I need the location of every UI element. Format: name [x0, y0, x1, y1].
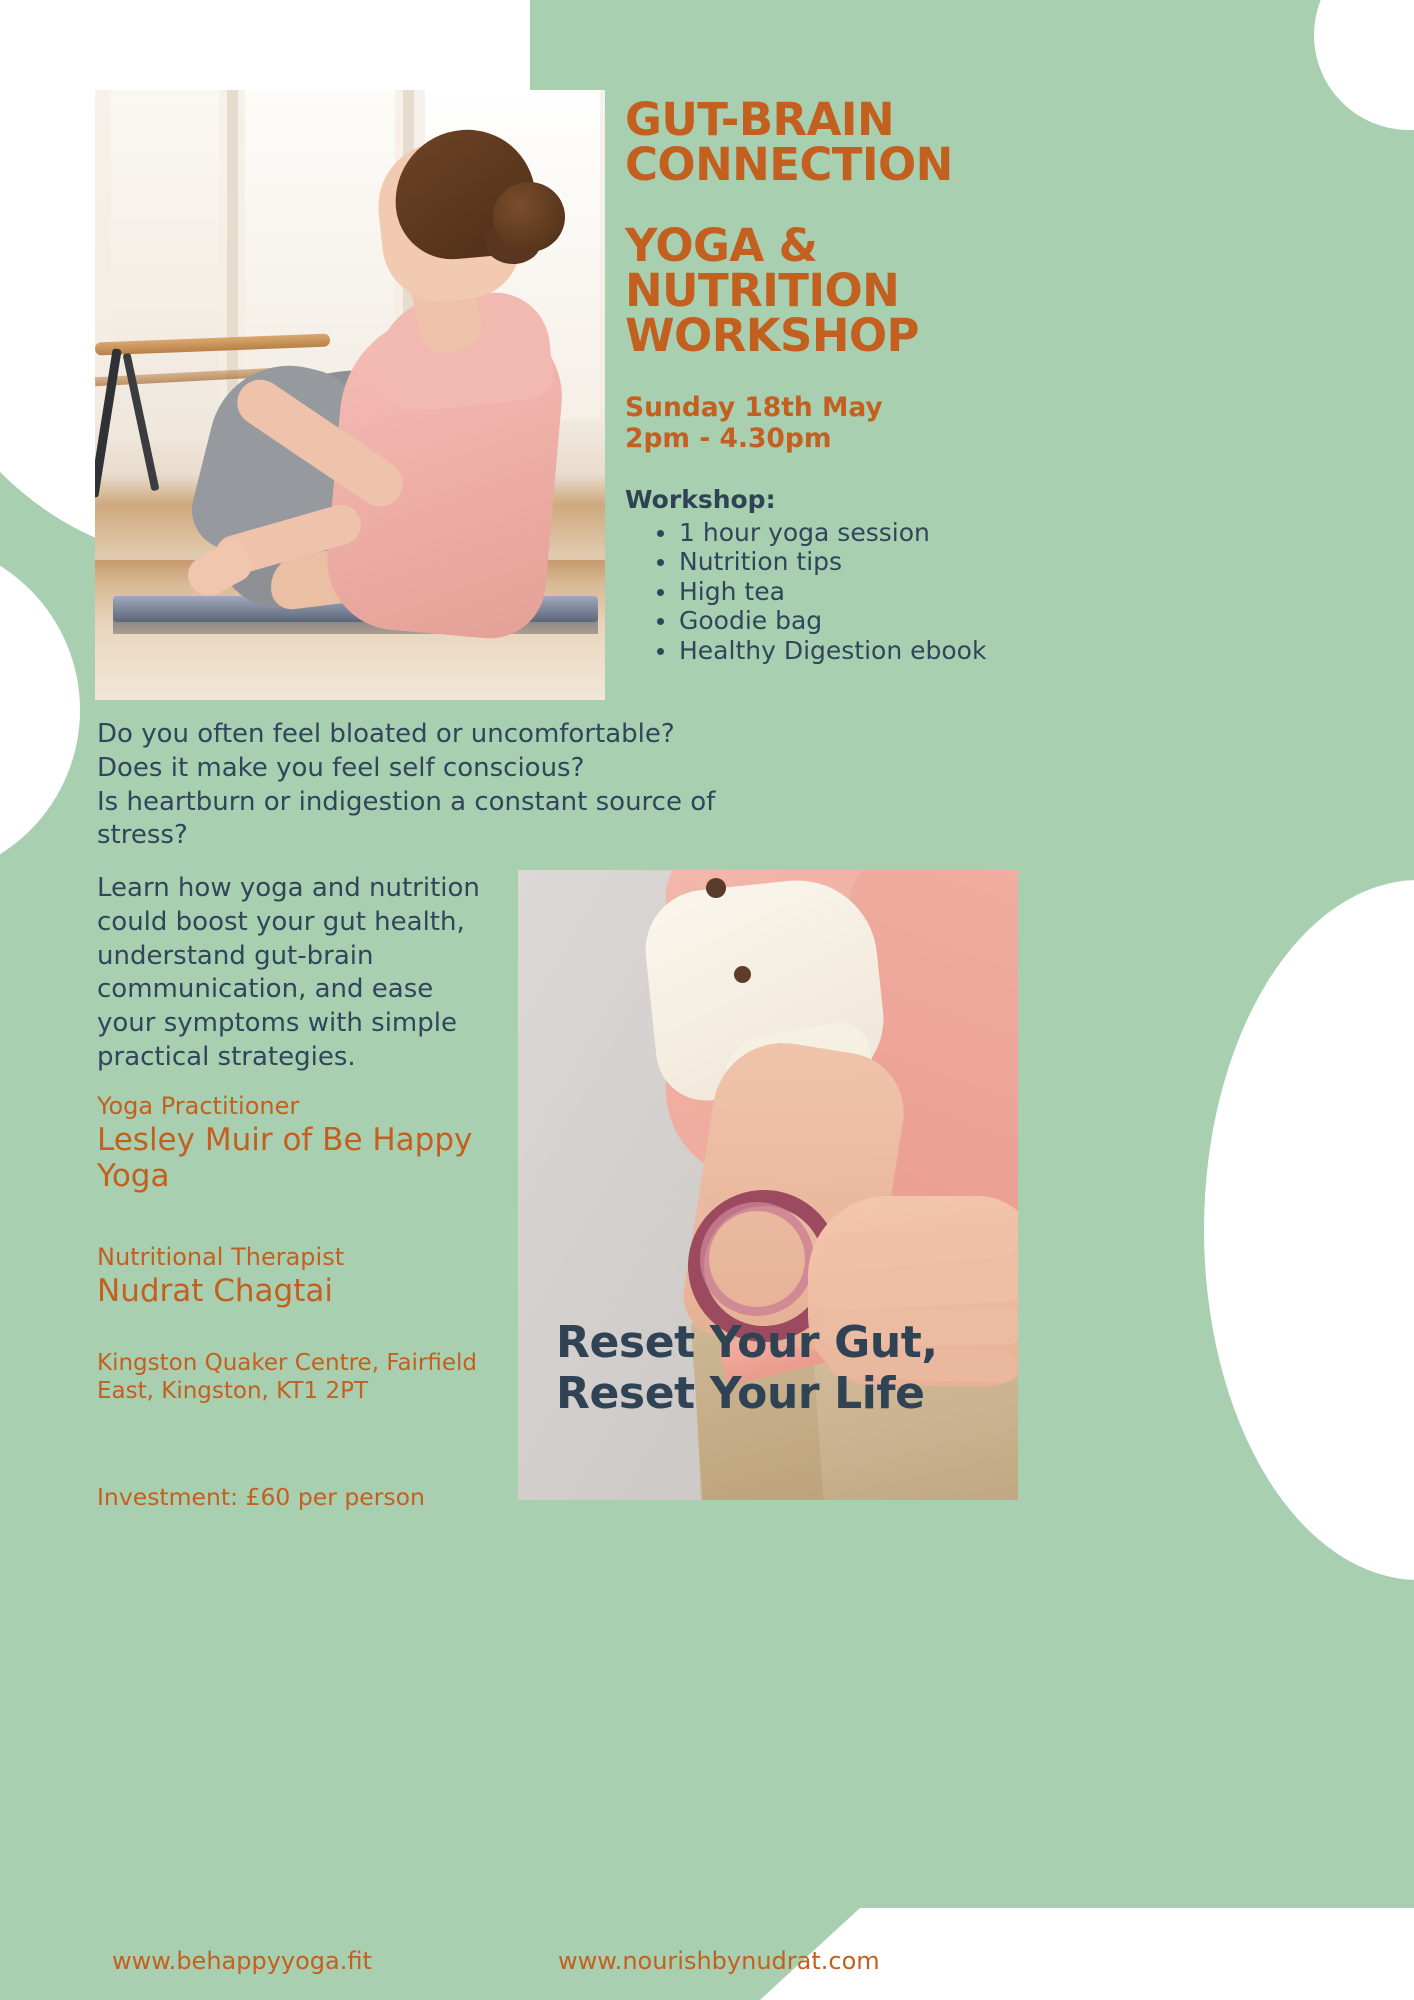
- workshop-heading: Workshop:: [625, 485, 1055, 514]
- presenter-nutritionist-role: Nutritional Therapist: [97, 1243, 527, 1272]
- poster-title: GUT-BRAIN CONNECTION: [625, 98, 1055, 187]
- website-link-behappyyoga[interactable]: www.behappyyoga.fit: [112, 1947, 372, 1975]
- question-line-4: stress?: [97, 819, 797, 853]
- poster-subtitle: YOGA & NUTRITION WORKSHOP: [625, 223, 1055, 358]
- poster-canvas: GUT-BRAIN CONNECTION YOGA & NUTRITION WO…: [0, 0, 1414, 2000]
- price-investment: Investment: £60 per person: [97, 1483, 557, 1511]
- tagline-line-2: Reset Your Life: [556, 1368, 1036, 1419]
- presenter-nutritionist: Nutritional Therapist Nudrat Chagtai: [97, 1243, 527, 1310]
- photo-yoga-mullion-1: [227, 90, 238, 435]
- list-item: Nutrition tips: [655, 547, 1055, 577]
- presenter-nutritionist-name: Nudrat Chagtai: [97, 1274, 527, 1309]
- presenter-yoga-name: Lesley Muir of Be Happy Yoga: [97, 1123, 527, 1194]
- learn-paragraph: Learn how yoga and nutrition could boost…: [97, 872, 497, 1075]
- list-item: 1 hour yoga session: [655, 518, 1055, 548]
- photo-yoga-hair-bun: [493, 182, 565, 252]
- question-line-2: Does it make you feel self conscious?: [97, 752, 797, 786]
- presenter-yoga-role: Yoga Practitioner: [97, 1092, 527, 1121]
- poster-subtitle-line3: WORKSHOP: [625, 309, 919, 362]
- venue-address: Kingston Quaker Centre, Fairfield East, …: [97, 1349, 497, 1406]
- pain-point-questions: Do you often feel bloated or uncomfortab…: [97, 718, 797, 853]
- photo-gut-button-1: [706, 878, 726, 898]
- event-date: Sunday 18th May: [625, 392, 1055, 423]
- tagline-line-1: Reset Your Gut,: [556, 1317, 1036, 1368]
- list-item: Goodie bag: [655, 606, 1055, 636]
- presenter-yoga: Yoga Practitioner Lesley Muir of Be Happ…: [97, 1092, 527, 1194]
- event-time: 2pm - 4.30pm: [625, 423, 1055, 454]
- event-datetime: Sunday 18th May 2pm - 4.30pm: [625, 392, 1055, 455]
- photo-gut-button-2: [734, 966, 751, 983]
- poster-title-line2: CONNECTION: [625, 138, 953, 191]
- header-text-column: GUT-BRAIN CONNECTION YOGA & NUTRITION WO…: [625, 98, 1055, 665]
- question-line-1: Do you often feel bloated or uncomfortab…: [97, 718, 797, 752]
- poster-tagline: Reset Your Gut, Reset Your Life: [556, 1317, 1036, 1419]
- photo-yoga-window-a: [111, 90, 219, 442]
- question-line-3: Is heartburn or indigestion a constant s…: [97, 786, 797, 820]
- list-item: High tea: [655, 577, 1055, 607]
- list-item: Healthy Digestion ebook: [655, 636, 1055, 666]
- workshop-inclusions-list: 1 hour yoga session Nutrition tips High …: [625, 518, 1055, 666]
- photo-yoga-woman: [95, 90, 605, 700]
- website-link-nourishbynudrat[interactable]: www.nourishbynudrat.com: [558, 1947, 880, 1975]
